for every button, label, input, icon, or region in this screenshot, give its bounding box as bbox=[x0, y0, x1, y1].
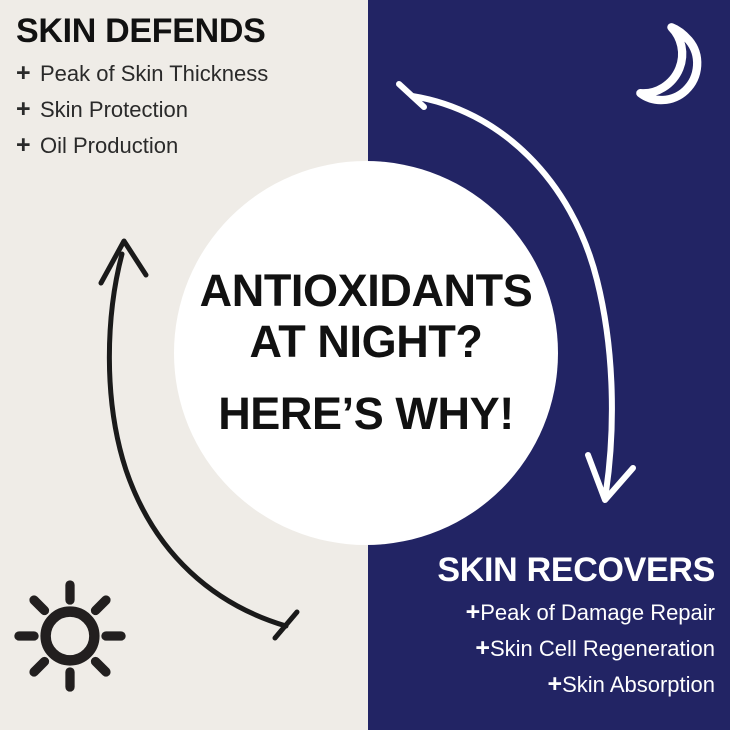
crescent-moon-icon bbox=[608, 14, 712, 118]
plus-icon: + bbox=[538, 672, 562, 697]
infographic-canvas: ANTIOXIDANTS AT NIGHT? HERE’S WHY! SKIN … bbox=[0, 0, 730, 730]
plus-icon: + bbox=[456, 600, 480, 625]
list-item-label: Peak of Skin Thickness bbox=[40, 62, 268, 85]
sun-icon bbox=[12, 578, 128, 694]
center-headline-line-1: ANTIOXIDANTS bbox=[200, 266, 533, 316]
list-item-label: Peak of Damage Repair bbox=[480, 601, 715, 624]
list-item-label: Skin Absorption bbox=[562, 673, 715, 696]
list-item: + Skin Cell Regeneration bbox=[437, 636, 715, 661]
list-item: + Peak of Damage Repair bbox=[437, 600, 715, 625]
plus-icon: + bbox=[466, 636, 490, 661]
plus-icon: + bbox=[16, 61, 40, 86]
list-item-label: Skin Cell Regeneration bbox=[490, 637, 715, 660]
center-headline-line-2: AT NIGHT? bbox=[249, 317, 482, 367]
skin-defends-panel: SKIN DEFENDS + Peak of Skin Thickness + … bbox=[16, 14, 268, 169]
center-headline-line-3: HERE’S WHY! bbox=[218, 389, 514, 439]
plus-icon: + bbox=[16, 97, 40, 122]
skin-recovers-heading: SKIN RECOVERS bbox=[437, 553, 715, 587]
list-item-label: Skin Protection bbox=[40, 98, 188, 121]
list-item: + Skin Protection bbox=[16, 97, 268, 122]
center-headline: ANTIOXIDANTS AT NIGHT? HERE’S WHY! bbox=[174, 161, 558, 545]
skin-defends-heading: SKIN DEFENDS bbox=[16, 14, 268, 48]
list-item: + Oil Production bbox=[16, 133, 268, 158]
plus-icon: + bbox=[16, 133, 40, 158]
skin-recovers-panel: SKIN RECOVERS + Peak of Damage Repair + … bbox=[437, 553, 715, 708]
list-item: + Skin Absorption bbox=[437, 672, 715, 697]
list-item: + Peak of Skin Thickness bbox=[16, 61, 268, 86]
list-item-label: Oil Production bbox=[40, 134, 178, 157]
